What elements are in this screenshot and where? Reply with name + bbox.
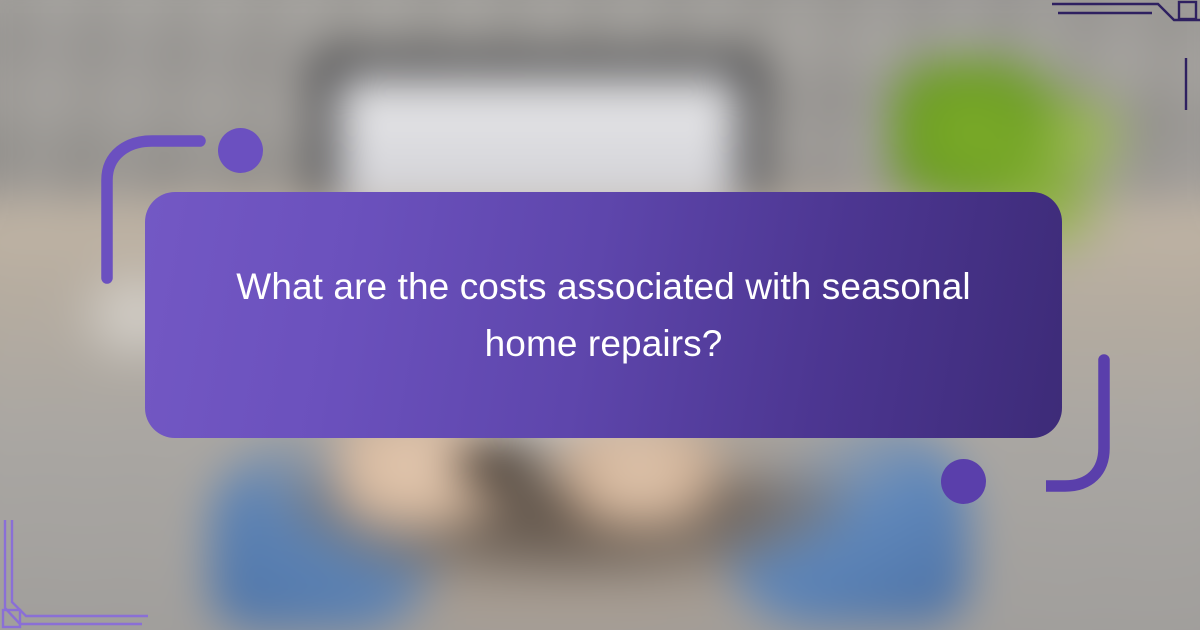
circuit-decoration-top-right xyxy=(1040,0,1200,110)
circuit-decoration-bottom-left xyxy=(0,520,160,630)
accent-stroke-bottom-right xyxy=(1046,352,1166,517)
background-laptop-screen xyxy=(336,76,740,208)
background-mouse xyxy=(452,442,538,488)
question-title: What are the costs associated with seaso… xyxy=(224,258,984,373)
question-card: What are the costs associated with seaso… xyxy=(145,192,1062,438)
accent-dot-top-left xyxy=(218,128,263,173)
screenshot-canvas: What are the costs associated with seaso… xyxy=(0,0,1200,630)
accent-dot-bottom-right xyxy=(941,459,986,504)
